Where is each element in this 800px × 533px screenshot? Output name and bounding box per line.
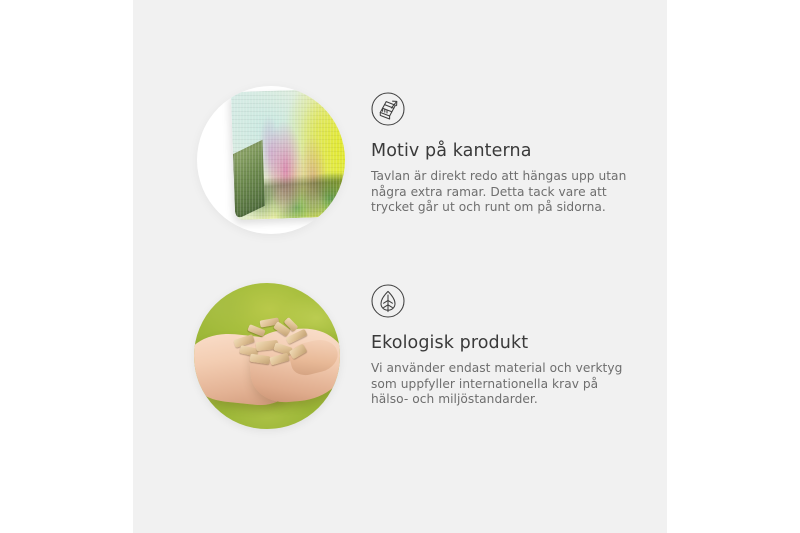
feature-description: Vi använder endast material och verktyg … — [371, 361, 629, 408]
feature-block-edges: Motiv på kanterna Tavlan är direkt redo … — [183, 78, 629, 240]
wood-chip-pile — [230, 317, 314, 367]
canvas-wrapped-side — [233, 140, 265, 220]
canvas-corner-photo — [183, 78, 345, 240]
feature-description: Tavlan är direkt redo att hängas upp uta… — [371, 169, 629, 216]
product-feature-banner: Motiv på kanterna Tavlan är direkt redo … — [0, 0, 800, 533]
feature-title: Ekologisk produkt — [371, 332, 629, 354]
feature-copy: Motiv på kanterna Tavlan är direkt redo … — [345, 78, 629, 216]
feature-title: Motiv på kanterna — [371, 140, 629, 162]
feature-copy: Ekologisk produkt Vi använder endast mat… — [345, 270, 629, 408]
feature-block-eco: Ekologisk produkt Vi använder endast mat… — [183, 270, 629, 432]
leaf-icon — [371, 284, 405, 318]
hands-wood-chips-photo — [183, 270, 345, 432]
canvas-wrapped-edges-icon — [371, 92, 405, 126]
white-circle-backdrop — [197, 86, 345, 234]
green-circle-photo — [194, 283, 340, 429]
canvas-artwork-corner — [231, 88, 345, 220]
